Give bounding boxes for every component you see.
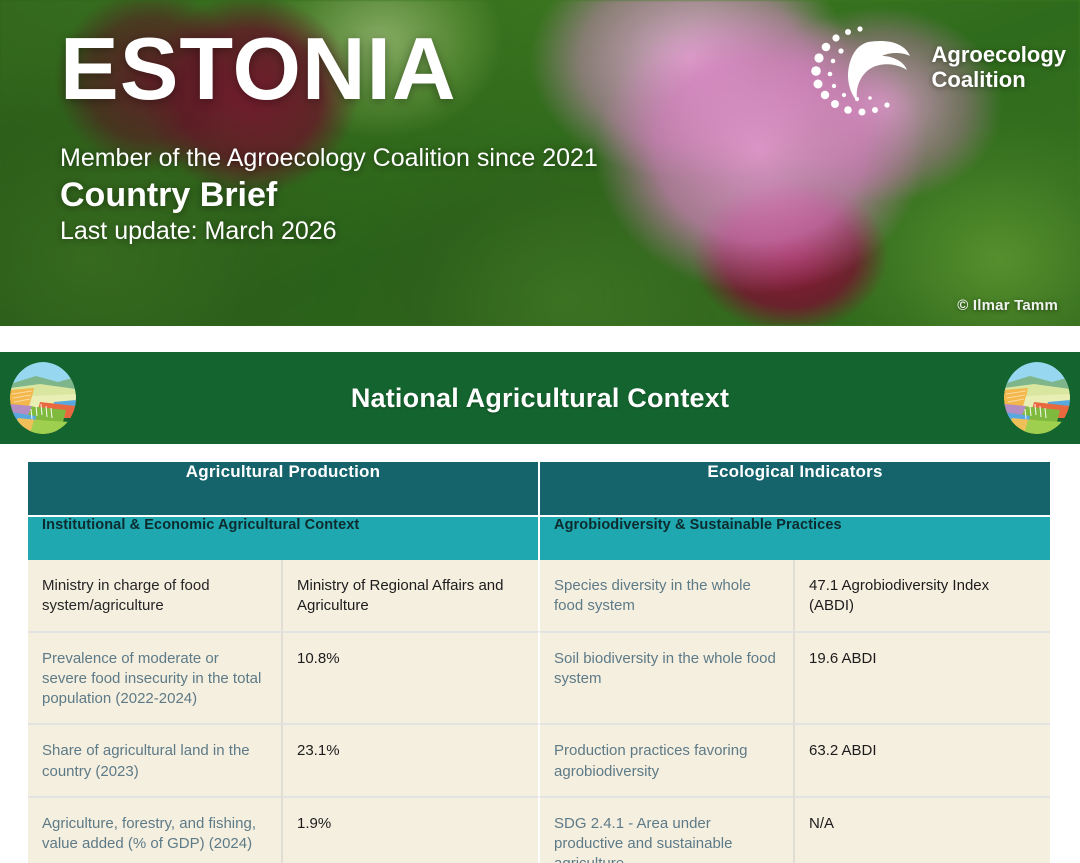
page-title: ESTONIA (60, 24, 760, 114)
banner-title: National Agricultural Context (351, 383, 729, 414)
indicator-label: Share of agricultural land in the countr… (28, 723, 283, 796)
last-update: Last update: March 2026 (60, 217, 760, 246)
table-column-header-row: Agricultural Production Ecological Indic… (28, 462, 1050, 515)
table-body: Ministry in charge of food system/agricu… (28, 560, 1050, 863)
indicator-value: Ministry of Regional Affairs and Agricul… (283, 560, 540, 631)
agroecology-coalition-logo[interactable]: Agroecology Coalition (810, 16, 1066, 126)
hero-section: ESTONIA Member of the Agroecology Coalit… (0, 0, 1080, 326)
table-row: Ministry in charge of food system/agricu… (28, 560, 1050, 631)
membership-line: Member of the Agroecology Coalition sinc… (60, 144, 760, 173)
indicator-label: Agriculture, forestry, and fishing, valu… (28, 796, 283, 863)
logo-word-line2: Coalition (932, 67, 1026, 92)
landscape-emblem-icon-right (1004, 362, 1070, 434)
indicator-value: 47.1 Agrobiodiversity Index (ABDI) (795, 560, 1050, 631)
leaf-circle-icon (810, 16, 928, 126)
logo-wordmark: Agroecology Coalition (932, 43, 1066, 98)
document-type: Country Brief (60, 176, 760, 215)
column-header-agricultural-production: Agricultural Production (28, 462, 540, 515)
table-row: Agriculture, forestry, and fishing, valu… (28, 796, 1050, 863)
photo-credit: © Ilmar Tamm (957, 297, 1058, 314)
country-brief-page: ESTONIA Member of the Agroecology Coalit… (0, 0, 1080, 863)
indicator-label: Ministry in charge of food system/agricu… (28, 560, 283, 631)
table-row: Prevalence of moderate or severe food in… (28, 631, 1050, 724)
indicator-value: 10.8% (283, 631, 540, 724)
indicator-label: Soil biodiversity in the whole food syst… (540, 631, 795, 724)
indicator-label: Prevalence of moderate or severe food in… (28, 631, 283, 724)
section-banner: National Agricultural Context (0, 352, 1080, 444)
indicator-value: N/A (795, 796, 1050, 863)
indicator-label: SDG 2.4.1 - Area under productive and su… (540, 796, 795, 863)
table-row: Share of agricultural land in the countr… (28, 723, 1050, 796)
indicator-value: 23.1% (283, 723, 540, 796)
indicator-value: 63.2 ABDI (795, 723, 1050, 796)
table-subheader-row: Institutional & Economic Agricultural Co… (28, 515, 1050, 560)
national-context-table-wrapper: Agricultural Production Ecological Indic… (28, 462, 1050, 863)
hero-text-block: ESTONIA Member of the Agroecology Coalit… (60, 24, 760, 246)
national-context-table: Agricultural Production Ecological Indic… (28, 462, 1050, 863)
subheader-agrobiodiversity-practices: Agrobiodiversity & Sustainable Practices (540, 515, 1050, 560)
indicator-value: 1.9% (283, 796, 540, 863)
logo-word-line1: Agroecology (932, 42, 1066, 67)
indicator-label: Species diversity in the whole food syst… (540, 560, 795, 631)
indicator-value: 19.6 ABDI (795, 631, 1050, 724)
column-header-ecological-indicators: Ecological Indicators (540, 462, 1050, 515)
subheader-institutional-economic: Institutional & Economic Agricultural Co… (28, 515, 540, 560)
indicator-label: Production practices favoring agrobiodiv… (540, 723, 795, 796)
landscape-emblem-icon-left (10, 362, 76, 434)
